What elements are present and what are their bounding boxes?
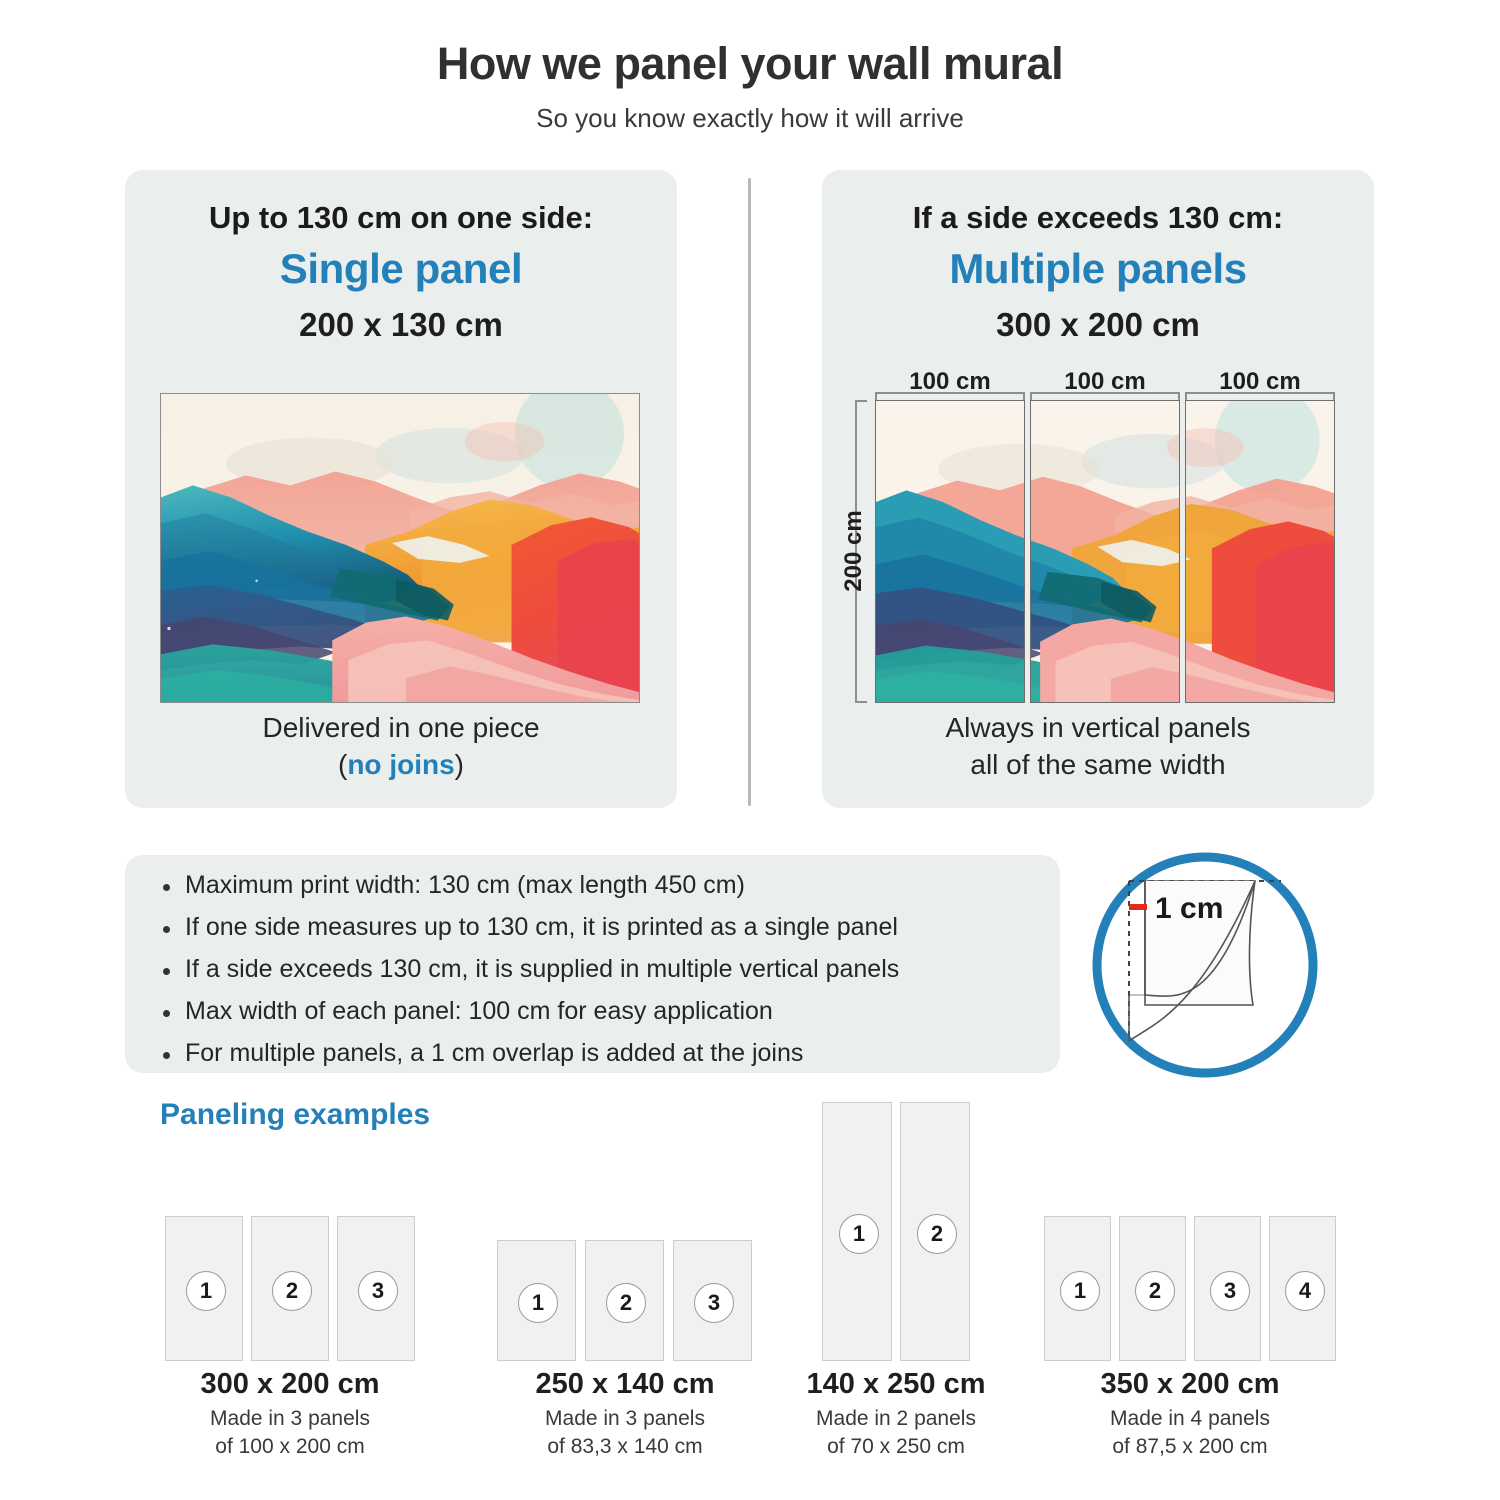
example-1-size: 300 x 200 cm [160,1368,420,1401]
panel-number: 1 [518,1283,558,1323]
page-title: How we panel your wall mural [0,38,1500,90]
single-panel-result: Single panel [125,245,677,293]
panel-number: 2 [606,1283,646,1323]
panel-3: 3 [673,1240,752,1361]
single-panel-footer-line1: Delivered in one piece [262,712,539,743]
bullet-dot-icon [163,926,170,933]
multiple-panels-result: Multiple panels [822,245,1374,293]
mural-illustration-slice-3 [1185,401,1334,702]
rule-text: If a side exceeds 130 cm, it is supplied… [185,955,899,983]
example-1-panels: 1 2 3 [165,1216,415,1361]
example-2-detail-line1: Made in 3 panels [545,1407,705,1430]
panel-2: 2 [900,1102,970,1361]
example-2-detail-line2: of 83,3 x 140 cm [547,1435,702,1458]
panel-number: 3 [694,1283,734,1323]
mural-illustration-slice-1 [876,401,1025,702]
example-3-detail-line1: Made in 2 panels [816,1407,976,1430]
example-1-detail: Made in 3 panels of 100 x 200 cm [160,1405,420,1461]
single-panel-size: 200 x 130 cm [125,306,677,344]
example-1-detail-line2: of 100 x 200 cm [215,1435,364,1458]
peeling-paper-corner-icon: 1 cm [1085,845,1325,1085]
panel-number: 2 [917,1214,957,1254]
panel-4: 4 [1269,1216,1336,1361]
mural-panel-3 [1185,400,1335,703]
panel-number: 4 [1285,1271,1325,1311]
page-subtitle: So you know exactly how it will arrive [0,103,1500,134]
list-item: For multiple panels, a 1 cm overlap is a… [155,1041,1035,1066]
rules-list: Maximum print width: 130 cm (max length … [155,873,1035,1066]
example-4-size: 350 x 200 cm [1060,1368,1320,1401]
example-4-detail-line1: Made in 4 panels [1110,1407,1270,1430]
bullet-dot-icon [163,1052,170,1059]
panel-1: 1 [497,1240,576,1361]
mural-panel-3-image [1185,401,1334,702]
example-2-size: 250 x 140 cm [495,1368,755,1401]
paneling-examples-title: Paneling examples [160,1098,430,1132]
example-1-detail-line1: Made in 3 panels [210,1407,370,1430]
panel-number: 3 [358,1271,398,1311]
multiple-panels-footer-line1: Always in vertical panels [945,712,1250,743]
example-2-panels: 1 2 3 [497,1240,752,1361]
panel-number: 2 [1135,1271,1175,1311]
multiple-panels-footer-line2: all of the same width [970,749,1225,780]
example-4-detail: Made in 4 panels of 87,5 x 200 cm [1060,1405,1320,1461]
panel-3: 3 [337,1216,415,1361]
panel-2: 2 [585,1240,664,1361]
card-divider [748,178,751,806]
rule-text: Max width of each panel: 100 cm for easy… [185,997,773,1025]
list-item: If a side exceeds 130 cm, it is supplied… [155,957,1035,982]
example-3-panels: 1 2 [822,1102,970,1361]
mural-panel-2 [1030,400,1180,703]
panel-3: 3 [1194,1216,1261,1361]
mural-illustration-slice-2 [1030,401,1180,702]
list-item: Maximum print width: 130 cm (max length … [155,873,1035,898]
bullet-dot-icon [163,1010,170,1017]
single-panel-condition: Up to 130 cm on one side: [125,200,677,236]
overlap-diagram: 1 cm [1085,845,1325,1085]
rule-text: Maximum print width: 130 cm (max length … [185,871,745,899]
no-joins-highlight: no joins [347,749,454,780]
multiple-panels-size: 300 x 200 cm [822,306,1374,344]
panel-2: 2 [251,1216,329,1361]
panel-number: 1 [839,1214,879,1254]
mural-artwork-triptych [875,400,1335,703]
mural-panel-2-image [1030,401,1180,702]
example-4-detail-line2: of 87,5 x 200 cm [1112,1435,1267,1458]
mural-illustration [161,394,639,702]
paren-close: ) [455,749,464,780]
mural-artwork-single [160,393,640,703]
bullet-dot-icon [163,884,170,891]
rules-card: Maximum print width: 130 cm (max length … [125,855,1060,1073]
example-3-detail-line2: of 70 x 250 cm [827,1435,965,1458]
mural-panel-1-image [876,401,1025,702]
panel-1: 1 [165,1216,243,1361]
example-2-detail: Made in 3 panels of 83,3 x 140 cm [495,1405,755,1461]
example-4-panels: 1 2 3 4 [1044,1216,1336,1361]
example-3-size: 140 x 250 cm [766,1368,1026,1401]
panel-1: 1 [1044,1216,1111,1361]
example-3-detail: Made in 2 panels of 70 x 250 cm [766,1405,1026,1461]
panel-number: 1 [1060,1271,1100,1311]
panel-height-label: 200 cm [840,486,868,616]
panel-number: 3 [1210,1271,1250,1311]
panel-2: 2 [1119,1216,1186,1361]
list-item: If one side measures up to 130 cm, it is… [155,915,1035,940]
paren-open: ( [338,749,347,780]
bullet-dot-icon [163,968,170,975]
panel-number: 1 [186,1271,226,1311]
overlap-label: 1 cm [1155,892,1223,925]
panel-1: 1 [822,1102,892,1361]
rule-text: If one side measures up to 130 cm, it is… [185,913,898,941]
rule-text: For multiple panels, a 1 cm overlap is a… [185,1039,803,1067]
multiple-panels-condition: If a side exceeds 130 cm: [822,200,1374,236]
panel-number: 2 [272,1271,312,1311]
mural-panel-1 [875,400,1025,703]
list-item: Max width of each panel: 100 cm for easy… [155,999,1035,1024]
infographic-page: How we panel your wall mural So you know… [0,0,1500,1500]
